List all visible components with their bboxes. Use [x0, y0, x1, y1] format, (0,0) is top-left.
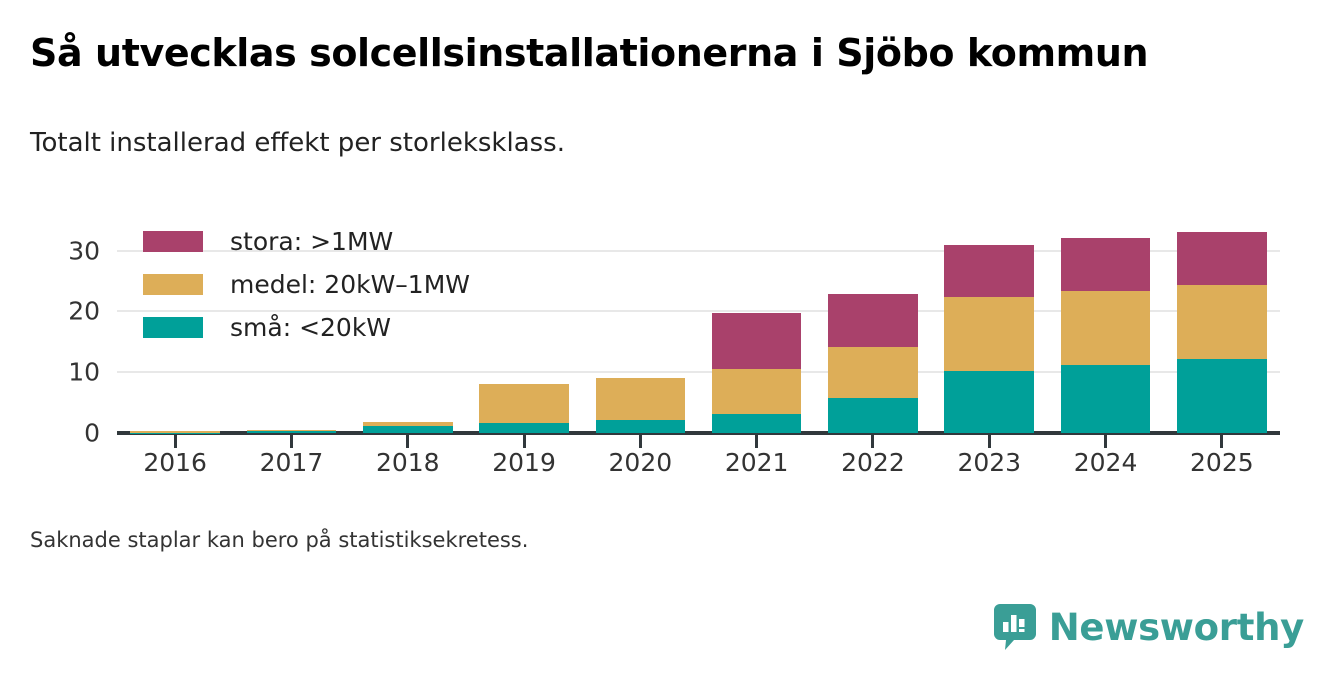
x-axis-label-2020: 2020 [609, 448, 673, 477]
bar-segment-2019-små[interactable] [479, 423, 569, 433]
x-axis-tick-2021 [755, 435, 758, 448]
x-axis-tick-2017 [290, 435, 293, 448]
chart-footnote: Saknade staplar kan bero på statistiksek… [30, 528, 528, 552]
bar-stack-2019[interactable] [479, 0, 569, 433]
legend-swatch-medel [143, 274, 203, 295]
legend-label-sma: små: <20kW [230, 313, 391, 342]
chart-legend: stora: >1MWmedel: 20kW–1MWsmå: <20kW [143, 222, 470, 351]
bar-stack-2017[interactable] [247, 0, 337, 433]
bar-segment-2020-små[interactable] [596, 420, 686, 433]
legend-item-stora[interactable]: stora: >1MW [143, 222, 470, 260]
y-axis-label-10: 10 [0, 358, 100, 387]
bar-segment-2016-medel[interactable] [130, 431, 220, 433]
legend-item-medel[interactable]: medel: 20kW–1MW [143, 265, 470, 303]
x-axis-tick-2023 [988, 435, 991, 448]
bar-segment-2023-små[interactable] [944, 371, 1034, 433]
bar-stack-2023[interactable] [944, 0, 1034, 433]
bar-stack-2022[interactable] [828, 0, 918, 433]
bar-segment-2024-medel[interactable] [1061, 291, 1151, 365]
bar-segment-2021-medel[interactable] [712, 369, 802, 414]
bar-segment-2025-små[interactable] [1177, 359, 1267, 433]
x-axis-tick-2019 [523, 435, 526, 448]
bar-segment-2023-stora[interactable] [944, 245, 1034, 297]
x-axis-tick-2024 [1104, 435, 1107, 448]
x-axis-tick-2020 [639, 435, 642, 448]
bar-stack-2025[interactable] [1177, 0, 1267, 433]
bar-segment-2022-små[interactable] [828, 398, 918, 433]
x-axis-tick-2022 [871, 435, 874, 448]
y-axis-label-0: 0 [0, 419, 100, 448]
bar-segment-2021-stora[interactable] [712, 313, 802, 368]
x-axis-label-2017: 2017 [260, 448, 324, 477]
bar-segment-2022-stora[interactable] [828, 294, 918, 347]
x-axis-label-2025: 2025 [1190, 448, 1254, 477]
legend-item-sma[interactable]: små: <20kW [143, 308, 470, 346]
legend-swatch-sma [143, 317, 203, 338]
bar-segment-2025-medel[interactable] [1177, 285, 1267, 360]
bar-segment-2017-medel[interactable] [247, 430, 337, 432]
legend-label-stora: stora: >1MW [230, 227, 393, 256]
x-axis-tick-2016 [174, 435, 177, 448]
bar-segment-2024-små[interactable] [1061, 365, 1151, 433]
logo-wordmark: Newsworthy [1049, 609, 1304, 646]
x-axis-label-2021: 2021 [725, 448, 789, 477]
bar-segment-2020-medel[interactable] [596, 378, 686, 419]
bar-segment-2024-stora[interactable] [1061, 238, 1151, 290]
bar-stack-2016[interactable] [130, 0, 220, 433]
bar-segment-2019-medel[interactable] [479, 384, 569, 424]
newsworthy-logo[interactable]: Newsworthy [994, 604, 1304, 650]
bar-segment-2023-medel[interactable] [944, 297, 1034, 371]
x-axis-label-2024: 2024 [1074, 448, 1138, 477]
y-axis-label-30: 30 [0, 236, 100, 265]
y-axis-label-20: 20 [0, 297, 100, 326]
bar-segment-2018-medel[interactable] [363, 422, 453, 426]
x-axis-label-2018: 2018 [376, 448, 440, 477]
x-axis-label-2016: 2016 [143, 448, 207, 477]
legend-label-medel: medel: 20kW–1MW [230, 270, 470, 299]
x-axis-tick-2025 [1220, 435, 1223, 448]
legend-swatch-stora [143, 231, 203, 252]
x-axis-tick-2018 [406, 435, 409, 448]
x-axis-label-2023: 2023 [957, 448, 1021, 477]
bar-segment-2018-små[interactable] [363, 426, 453, 433]
bar-segment-2025-stora[interactable] [1177, 232, 1267, 284]
bar-stack-2020[interactable] [596, 0, 686, 433]
x-axis-label-2019: 2019 [492, 448, 556, 477]
bar-stack-2021[interactable] [712, 0, 802, 433]
bar-stack-2018[interactable] [363, 0, 453, 433]
bar-segment-2022-medel[interactable] [828, 347, 918, 398]
bar-segment-2017-små[interactable] [247, 431, 337, 433]
x-axis-label-2022: 2022 [841, 448, 905, 477]
bar-segment-2021-små[interactable] [712, 414, 802, 433]
bar-chart-speech-bubble-icon [994, 604, 1036, 650]
bar-stack-2024[interactable] [1061, 0, 1151, 433]
